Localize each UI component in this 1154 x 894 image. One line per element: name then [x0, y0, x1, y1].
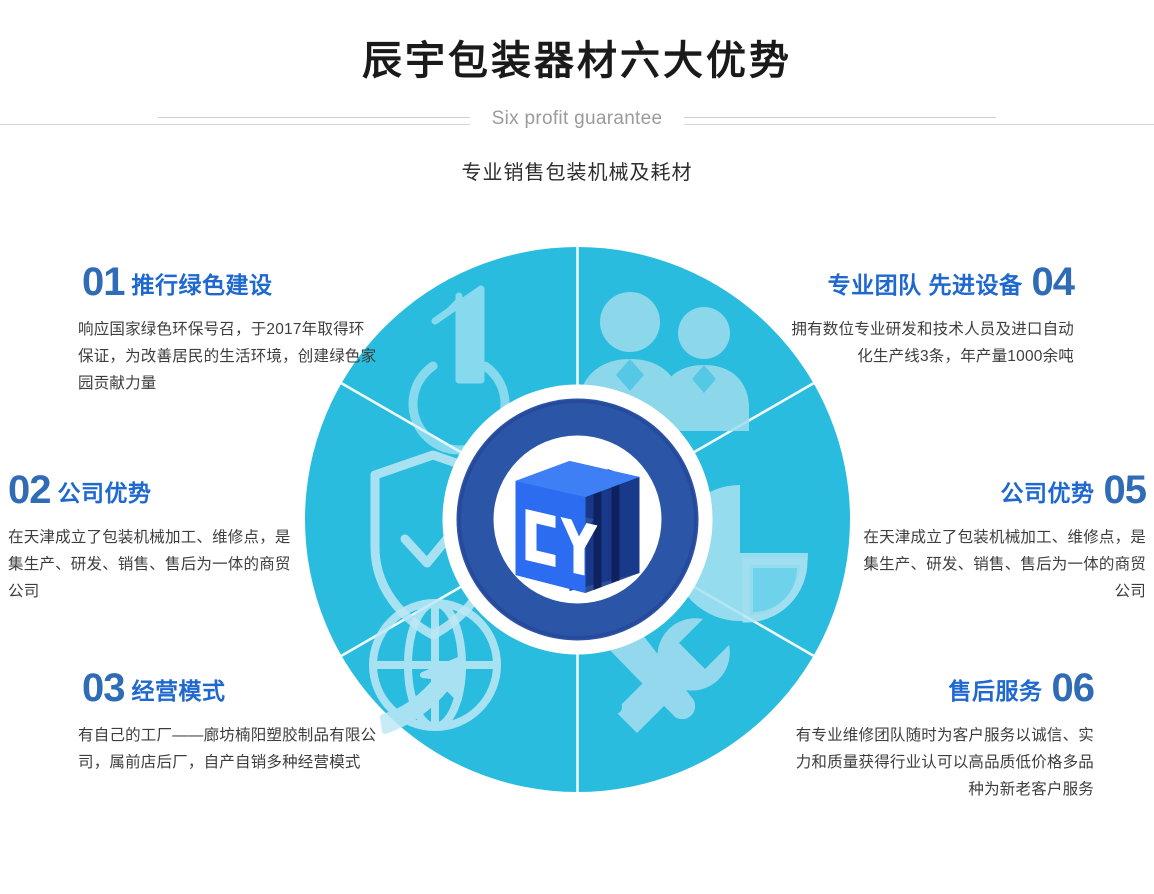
feature-block-03: 03经营模式 有自己的工厂——廊坊楠阳塑胶制品有限公司，属前店后厂，自产自销多种…	[78, 668, 388, 776]
feature-head-05: 公司优势05	[856, 470, 1146, 510]
feature-number-06: 06	[1052, 666, 1095, 710]
feature-head-06: 售后服务06	[784, 668, 1094, 708]
feature-number-05: 05	[1104, 468, 1147, 512]
cy-box-logo	[516, 461, 640, 593]
feature-body-05: 在天津成立了包装机械加工、维修点，是集生产、研发、销售、售后为一体的商贸公司	[856, 524, 1146, 605]
feature-body-04: 拥有数位专业研发和技术人员及进口自动化生产线3条，年产量1000余吨	[778, 316, 1074, 370]
feature-label-05: 公司优势	[1001, 480, 1095, 506]
feature-block-04: 专业团队 先进设备04 拥有数位专业研发和技术人员及进口自动化生产线3条，年产量…	[778, 262, 1074, 370]
feature-body-02: 在天津成立了包装机械加工、维修点，是集生产、研发、销售、售后为一体的商贸公司	[8, 524, 298, 605]
feature-block-06: 售后服务06 有专业维修团队随时为客户服务以诚信、实力和质量获得行业认可以高品质…	[784, 668, 1094, 803]
feature-head-01: 01推行绿色建设	[82, 262, 378, 302]
feature-body-03: 有自己的工厂——廊坊楠阳塑胶制品有限公司，属前店后厂，自产自销多种经营模式	[78, 722, 388, 776]
feature-head-02: 02公司优势	[8, 470, 298, 510]
feature-number-01: 01	[82, 260, 125, 304]
feature-head-03: 03经营模式	[82, 668, 388, 708]
feature-label-06: 售后服务	[949, 678, 1043, 704]
feature-label-01: 推行绿色建设	[132, 272, 273, 298]
feature-head-04: 专业团队 先进设备04	[778, 262, 1074, 302]
feature-body-01: 响应国家绿色环保号召，于2017年取得环保证，为改善居民的生活环境，创建绿色家园…	[78, 316, 378, 397]
feature-number-03: 03	[82, 666, 125, 710]
feature-body-06: 有专业维修团队随时为客户服务以诚信、实力和质量获得行业认可以高品质低价格多品种为…	[784, 722, 1094, 803]
page-title: 辰宇包装器材六大优势	[0, 36, 1154, 86]
page-header: 辰宇包装器材六大优势 Six profit guarantee 专业销售包装机械…	[0, 0, 1154, 210]
feature-number-04: 04	[1032, 260, 1075, 304]
subtitle-en-container: Six profit guarantee	[0, 107, 1154, 131]
feature-label-04: 专业团队 先进设备	[828, 272, 1023, 298]
feature-block-02: 02公司优势 在天津成立了包装机械加工、维修点，是集生产、研发、销售、售后为一体…	[8, 470, 298, 605]
feature-label-03: 经营模式	[132, 678, 226, 704]
subtitle-cn: 专业销售包装机械及耗材	[0, 156, 1154, 185]
feature-block-05: 公司优势05 在天津成立了包装机械加工、维修点，是集生产、研发、销售、售后为一体…	[856, 470, 1146, 605]
globe-arrow-icon	[373, 603, 497, 731]
feature-block-01: 01推行绿色建设 响应国家绿色环保号召，于2017年取得环保证，为改善居民的生活…	[78, 262, 378, 397]
feature-label-02: 公司优势	[58, 480, 152, 506]
subtitle-en: Six profit guarantee	[470, 107, 685, 131]
feature-number-02: 02	[8, 468, 51, 512]
